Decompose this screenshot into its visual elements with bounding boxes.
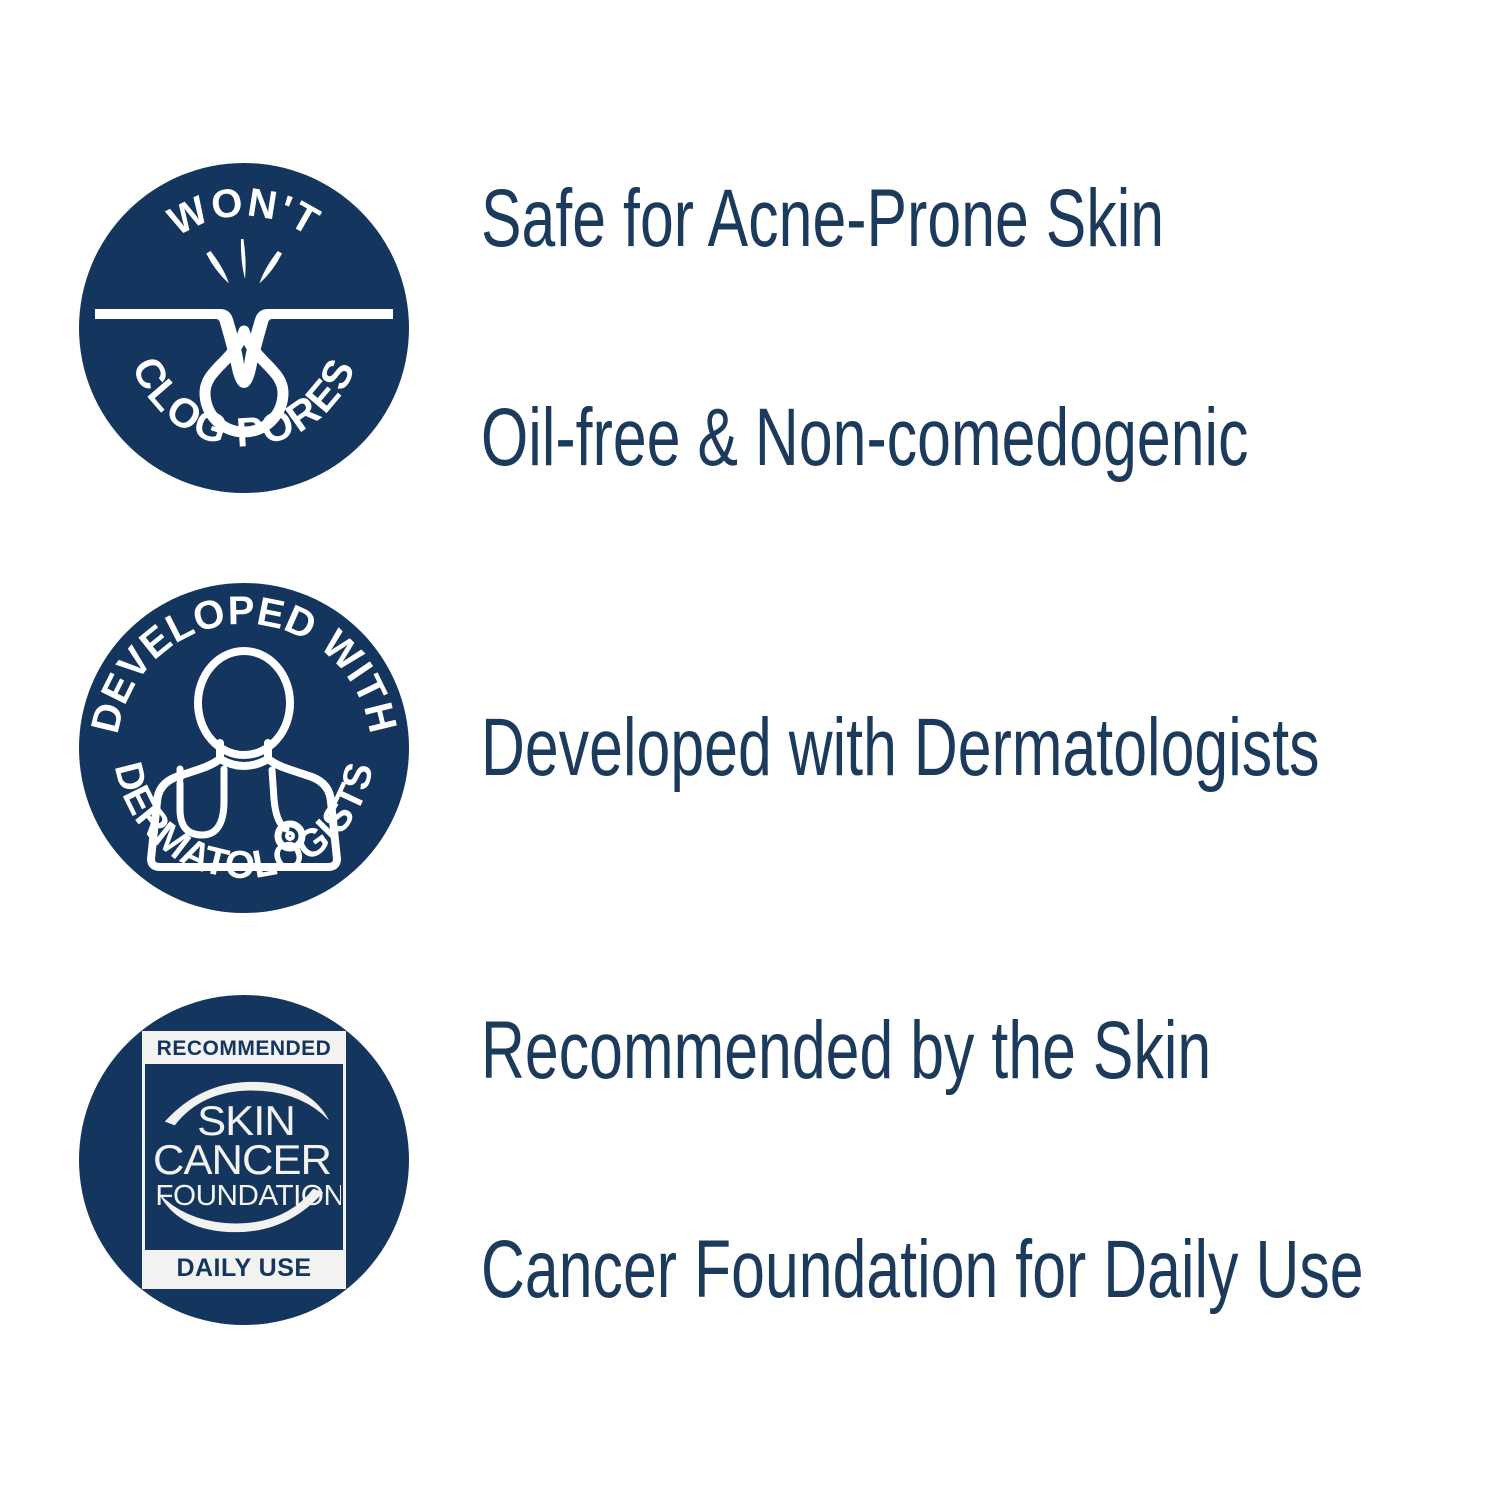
benefit-row: WON'T CLOG PORES: [0, 163, 1500, 493]
skin-cancer-foundation-badge: RECOMMENDED SKIN CANCER: [79, 995, 409, 1325]
benefit-line: Safe for Acne-Prone Skin: [481, 164, 1249, 273]
benefits-panel: WON'T CLOG PORES: [0, 0, 1500, 1500]
developed-with-dermatologists-badge: DEVELOPED WITH DERMATOLOGISTS: [79, 583, 409, 913]
benefit-row: DEVELOPED WITH DERMATOLOGISTS: [0, 583, 1500, 913]
benefit-row: RECOMMENDED SKIN CANCER: [0, 995, 1500, 1325]
benefit-line: Recommended by the Skin: [481, 996, 1364, 1105]
benefit-line: Oil-free & Non-comedogenic: [481, 383, 1249, 492]
skin-cancer-foundation-seal-icon: RECOMMENDED SKIN CANCER: [142, 1031, 346, 1289]
benefit-text: Recommended by the Skin Cancer Foundatio…: [481, 887, 1364, 1432]
seal-bottom-label: DAILY USE: [145, 1250, 343, 1286]
seal-logo-line: FOUNDATION: [155, 1180, 341, 1211]
benefit-line: Developed with Dermatologists: [481, 693, 1320, 802]
benefit-line: Cancer Foundation for Daily Use: [481, 1215, 1364, 1324]
wont-clog-pores-badge-graphic: WON'T CLOG PORES: [79, 163, 409, 493]
developed-with-dermatologists-badge-graphic: DEVELOPED WITH DERMATOLOGISTS: [79, 583, 409, 913]
benefit-text: Safe for Acne-Prone Skin Oil-free & Non-…: [481, 55, 1249, 600]
seal-top-label: RECOMMENDED: [145, 1034, 343, 1064]
seal-core: SKIN CANCER FOUNDATION: [145, 1064, 343, 1250]
seal-logo-graphic: SKIN CANCER FOUNDATION: [147, 1066, 341, 1248]
wont-clog-pores-badge: WON'T CLOG PORES: [79, 163, 409, 493]
benefit-text: Developed with Dermatologists: [481, 584, 1320, 911]
seal-logo-line: CANCER: [153, 1137, 331, 1184]
